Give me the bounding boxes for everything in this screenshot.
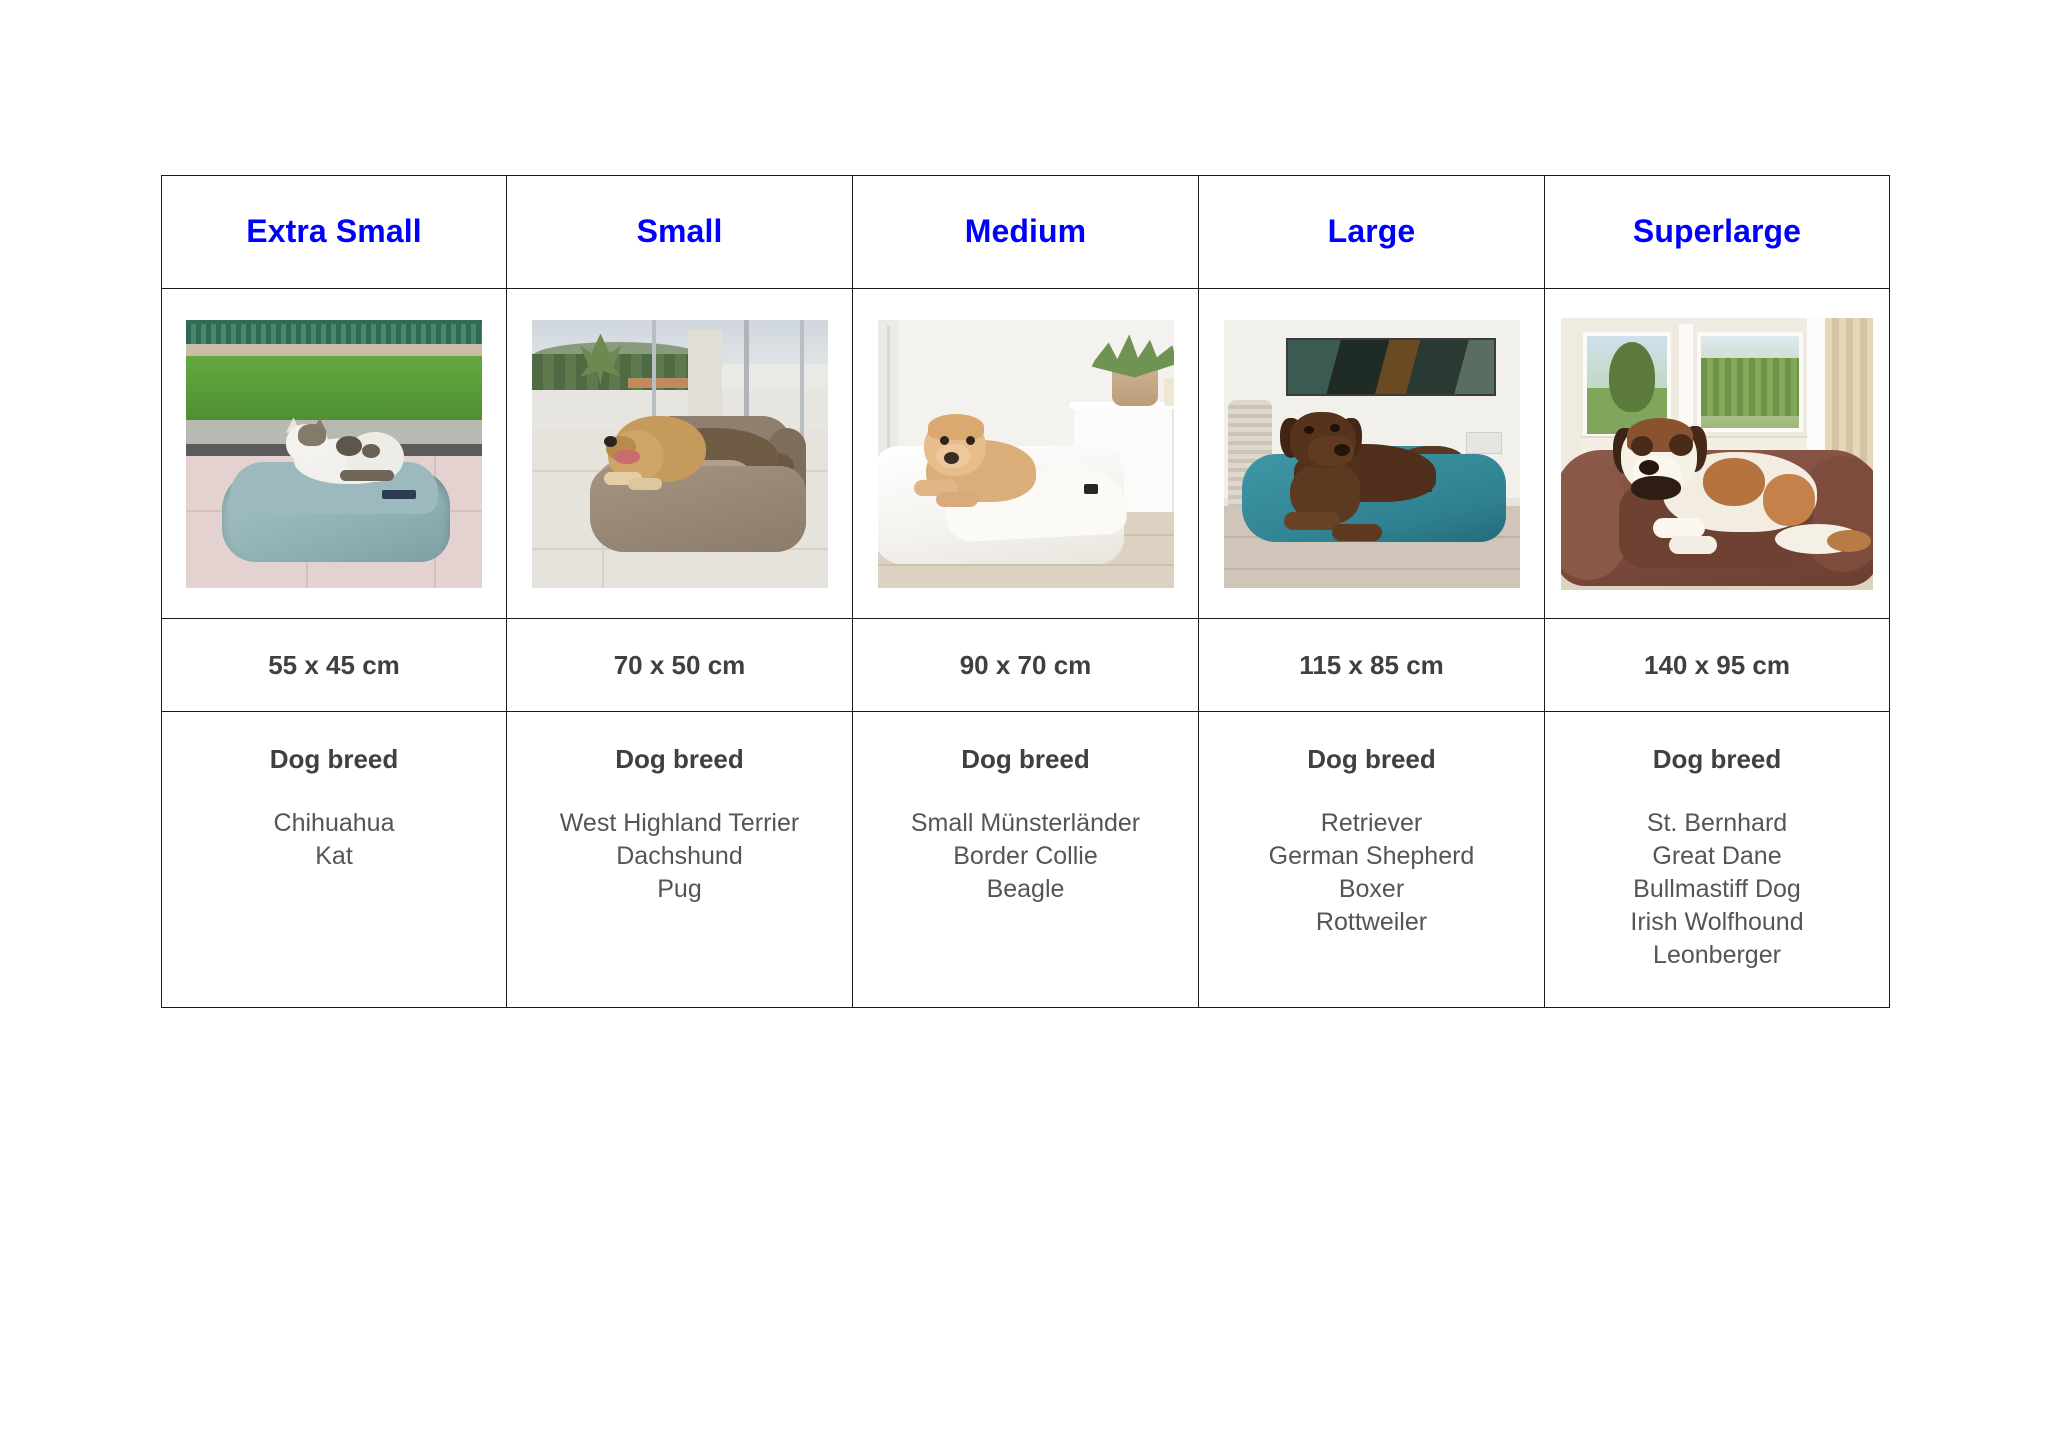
cell-size-name-large: Large	[1199, 176, 1545, 289]
size-name-extra-small: Extra Small	[162, 214, 506, 249]
table-row-breeds: Dog breed Chihuahua Kat Dog breed West H…	[162, 712, 1890, 1008]
list-item: Boxer	[1199, 873, 1544, 906]
table-row-dimensions: 55 x 45 cm 70 x 50 cm 90 x 70 cm 115 x 8…	[162, 619, 1890, 712]
list-item: Beagle	[853, 873, 1198, 906]
cell-size-name-medium: Medium	[853, 176, 1199, 289]
cell-photo-medium	[853, 289, 1199, 619]
cell-size-name-small: Small	[507, 176, 853, 289]
size-name-large: Large	[1199, 214, 1544, 249]
cell-photo-large	[1199, 289, 1545, 619]
cell-size-name-extra-small: Extra Small	[162, 176, 507, 289]
photo-large-labrador-on-bed	[1224, 320, 1520, 588]
list-item: Dachshund	[507, 840, 852, 873]
breed-heading-small: Dog breed	[507, 744, 852, 775]
cell-breeds-extra-small: Dog breed Chihuahua Kat	[162, 712, 507, 1008]
list-item: Rottweiler	[1199, 906, 1544, 939]
size-name-small: Small	[507, 214, 852, 249]
breed-heading-large: Dog breed	[1199, 744, 1544, 775]
size-name-superlarge: Superlarge	[1545, 214, 1889, 249]
cell-dimensions-small: 70 x 50 cm	[507, 619, 853, 712]
list-item: Small Münsterländer	[853, 807, 1198, 840]
list-item: Kat	[162, 840, 506, 873]
dimensions-large: 115 x 85 cm	[1199, 650, 1544, 681]
cell-dimensions-large: 115 x 85 cm	[1199, 619, 1545, 712]
breed-list-small: West Highland Terrier Dachshund Pug	[507, 807, 852, 906]
list-item: Irish Wolfhound	[1545, 906, 1889, 939]
cell-size-name-superlarge: Superlarge	[1545, 176, 1890, 289]
cell-dimensions-medium: 90 x 70 cm	[853, 619, 1199, 712]
cell-photo-extra-small	[162, 289, 507, 619]
list-item: Leonberger	[1545, 939, 1889, 972]
list-item: German Shepherd	[1199, 840, 1544, 873]
list-item: St. Bernhard	[1545, 807, 1889, 840]
photo-medium-doodle-on-bed	[878, 320, 1174, 588]
dog-bed-size-table: Extra Small Small Medium Large Superlarg…	[161, 175, 1890, 1008]
cell-breeds-superlarge: Dog breed St. Bernhard Great Dane Bullma…	[1545, 712, 1890, 1008]
photo-small-terrier-on-bed	[532, 320, 828, 588]
cell-photo-small	[507, 289, 853, 619]
breed-list-medium: Small Münsterländer Border Collie Beagle	[853, 807, 1198, 906]
table-row-photos	[162, 289, 1890, 619]
list-item: Chihuahua	[162, 807, 506, 840]
cell-breeds-small: Dog breed West Highland Terrier Dachshun…	[507, 712, 853, 1008]
size-name-medium: Medium	[853, 214, 1198, 249]
list-item: Border Collie	[853, 840, 1198, 873]
breed-list-extra-small: Chihuahua Kat	[162, 807, 506, 873]
breed-heading-medium: Dog breed	[853, 744, 1198, 775]
cell-dimensions-superlarge: 140 x 95 cm	[1545, 619, 1890, 712]
dimensions-small: 70 x 50 cm	[507, 650, 852, 681]
list-item: Great Dane	[1545, 840, 1889, 873]
photo-extra-small-cat-on-bed	[186, 320, 482, 588]
list-item: Bullmastiff Dog	[1545, 873, 1889, 906]
photo-superlarge-stbernard-on-bed	[1561, 318, 1873, 590]
table-row-size-names: Extra Small Small Medium Large Superlarg…	[162, 176, 1890, 289]
breed-heading-extra-small: Dog breed	[162, 744, 506, 775]
list-item: Pug	[507, 873, 852, 906]
cell-breeds-medium: Dog breed Small Münsterländer Border Col…	[853, 712, 1199, 1008]
dimensions-superlarge: 140 x 95 cm	[1545, 650, 1889, 681]
list-item: Retriever	[1199, 807, 1544, 840]
breed-heading-superlarge: Dog breed	[1545, 744, 1889, 775]
dimensions-medium: 90 x 70 cm	[853, 650, 1198, 681]
cell-dimensions-extra-small: 55 x 45 cm	[162, 619, 507, 712]
breed-list-large: Retriever German Shepherd Boxer Rottweil…	[1199, 807, 1544, 939]
list-item: West Highland Terrier	[507, 807, 852, 840]
breed-list-superlarge: St. Bernhard Great Dane Bullmastiff Dog …	[1545, 807, 1889, 972]
dimensions-extra-small: 55 x 45 cm	[162, 650, 506, 681]
page-canvas: Extra Small Small Medium Large Superlarg…	[0, 0, 2048, 1448]
cell-breeds-large: Dog breed Retriever German Shepherd Boxe…	[1199, 712, 1545, 1008]
cell-photo-superlarge	[1545, 289, 1890, 619]
